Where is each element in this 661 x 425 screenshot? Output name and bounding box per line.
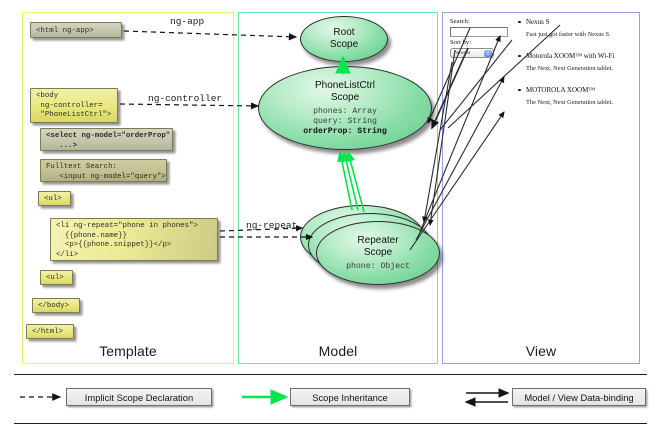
repeater-props: phone: Object (346, 262, 410, 272)
phonelistctrl-props: phones: Array query: String orderProp: S… (303, 107, 387, 137)
column-model: Model (238, 12, 438, 364)
prop-phones: phones: Array (303, 107, 387, 117)
code-box-ul-close: <ul> (40, 270, 73, 285)
view-phone-snippet-1: The Next, Next Generation tablet. (526, 65, 613, 72)
bullet-icon (518, 55, 521, 58)
view-sort-select[interactable]: Newest (450, 48, 494, 58)
bullet-icon (518, 89, 521, 92)
scope-ellipse-root: Root Scope (300, 16, 388, 62)
chevron-updown-icon (484, 50, 492, 57)
repeater-title-line1: Repeater (357, 235, 398, 246)
view-phone-name-0: Nexus S (526, 18, 550, 26)
view-search-label: Search: (450, 18, 470, 25)
column-label-view: View (443, 343, 639, 359)
legend: Implicit Scope Declaration Scope Inherit… (0, 372, 661, 425)
legend-item-model-view-data-binding: Model / View Data-binding (512, 388, 646, 406)
view-phone-snippet-2: The Next, Next Generation tablet. (526, 99, 613, 106)
code-box-li-repeat: <li ng-repeat="phone in phones"> {{phone… (50, 218, 218, 261)
code-box-body-close: </body> (32, 298, 80, 313)
legend-rule-top (14, 374, 647, 375)
code-box-select-tag: <select ng-model="orderProp" ...> (40, 128, 173, 151)
view-phone-name-1: Motorola XOOM™ with Wi-Fi (526, 52, 614, 60)
view-app-preview: Search: Sort by: Newest Nexus S Fast jus… (448, 16, 636, 136)
root-scope-title-line2: Scope (330, 39, 358, 50)
prop-phone: phone: Object (346, 262, 410, 272)
prop-query: query: String (303, 117, 387, 127)
legend-item-implicit-scope-declaration: Implicit Scope Declaration (66, 388, 212, 406)
column-label-model: Model (239, 343, 437, 359)
repeater-title-line2: Scope (364, 247, 392, 258)
view-sort-selected: Newest (454, 50, 470, 56)
legend-item-scope-inheritance: Scope Inheritance (290, 388, 410, 406)
legend-rule-bottom (14, 423, 647, 424)
code-box-html-tag: <html ng-app> (30, 22, 122, 38)
bullet-icon (518, 21, 521, 24)
code-box-ul-open: <ul> (38, 191, 71, 206)
code-box-search-input: Fulltext Search: <input ng-model="query"… (40, 159, 167, 182)
code-box-body-tag: <body ng-controller= "PhoneListCtrl"> (30, 88, 118, 123)
column-label-template: Template (23, 343, 233, 359)
scope-ellipse-phonelistctrl: PhoneListCtrl Scope phones: Array query:… (258, 66, 432, 150)
prop-orderprop: orderProp: String (303, 127, 387, 137)
view-phone-name-2: MOTOROLA XOOM™ (526, 86, 595, 94)
view-phone-snippet-0: Fast just got faster with Nexus S. (526, 31, 611, 38)
diagram-canvas: Template Model View <html ng-app> <body … (0, 0, 661, 425)
view-search-input[interactable] (450, 27, 508, 37)
view-sort-label: Sort by: (450, 39, 471, 46)
phonelistctrl-title-line1: PhoneListCtrl (315, 80, 375, 91)
code-box-html-close: </html> (26, 324, 74, 339)
scope-ellipse-repeater: Repeater Scope phone: Object (316, 221, 440, 285)
root-scope-title-line1: Root (333, 27, 354, 38)
phonelistctrl-title-line2: Scope (331, 92, 359, 103)
